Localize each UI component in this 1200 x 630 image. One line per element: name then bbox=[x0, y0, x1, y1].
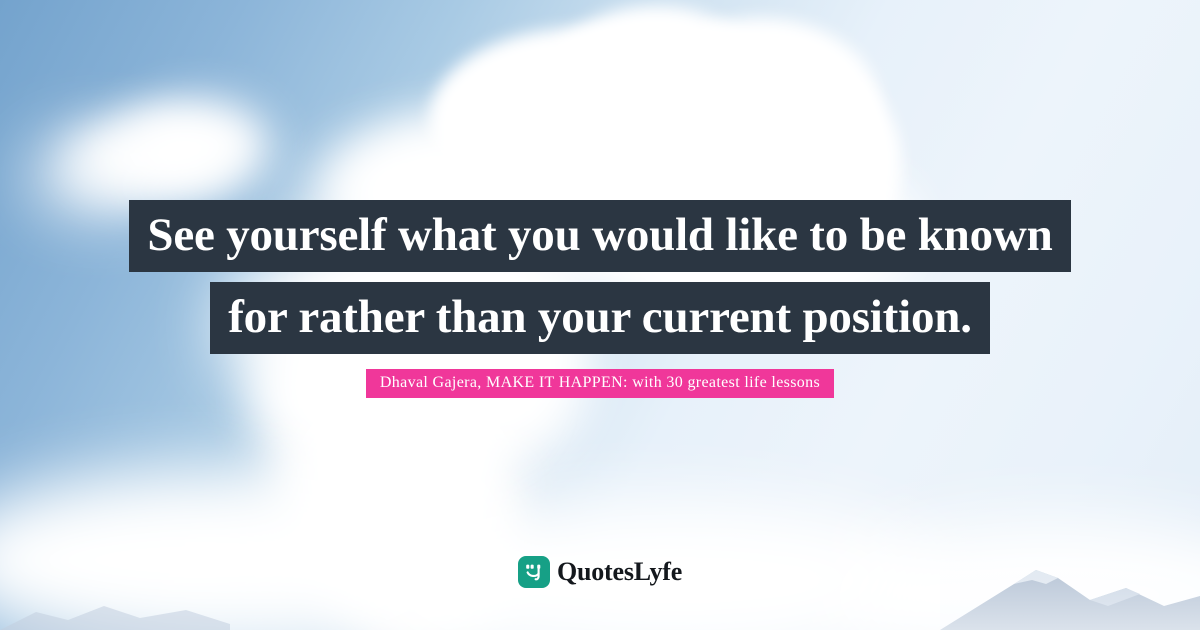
quote-line-row: for rather than your current position. bbox=[0, 282, 1200, 354]
quote-line-1: See yourself what you would like to be k… bbox=[129, 200, 1070, 272]
logo-wordmark: QuotesLyfe bbox=[557, 559, 682, 585]
attribution-row: Dhaval Gajera, MAKE IT HAPPEN: with 30 g… bbox=[0, 369, 1200, 398]
mountain-ridge-left bbox=[0, 590, 230, 630]
quote-card: See yourself what you would like to be k… bbox=[0, 0, 1200, 630]
cloud-puff bbox=[120, 100, 270, 190]
attribution-label: Dhaval Gajera, MAKE IT HAPPEN: with 30 g… bbox=[366, 369, 834, 398]
quote-block: See yourself what you would like to be k… bbox=[0, 200, 1200, 354]
quote-line-2: for rather than your current position. bbox=[210, 282, 990, 354]
quote-smiley-icon bbox=[518, 556, 550, 588]
quote-line-row: See yourself what you would like to be k… bbox=[0, 200, 1200, 272]
site-logo[interactable]: QuotesLyfe bbox=[0, 556, 1200, 588]
